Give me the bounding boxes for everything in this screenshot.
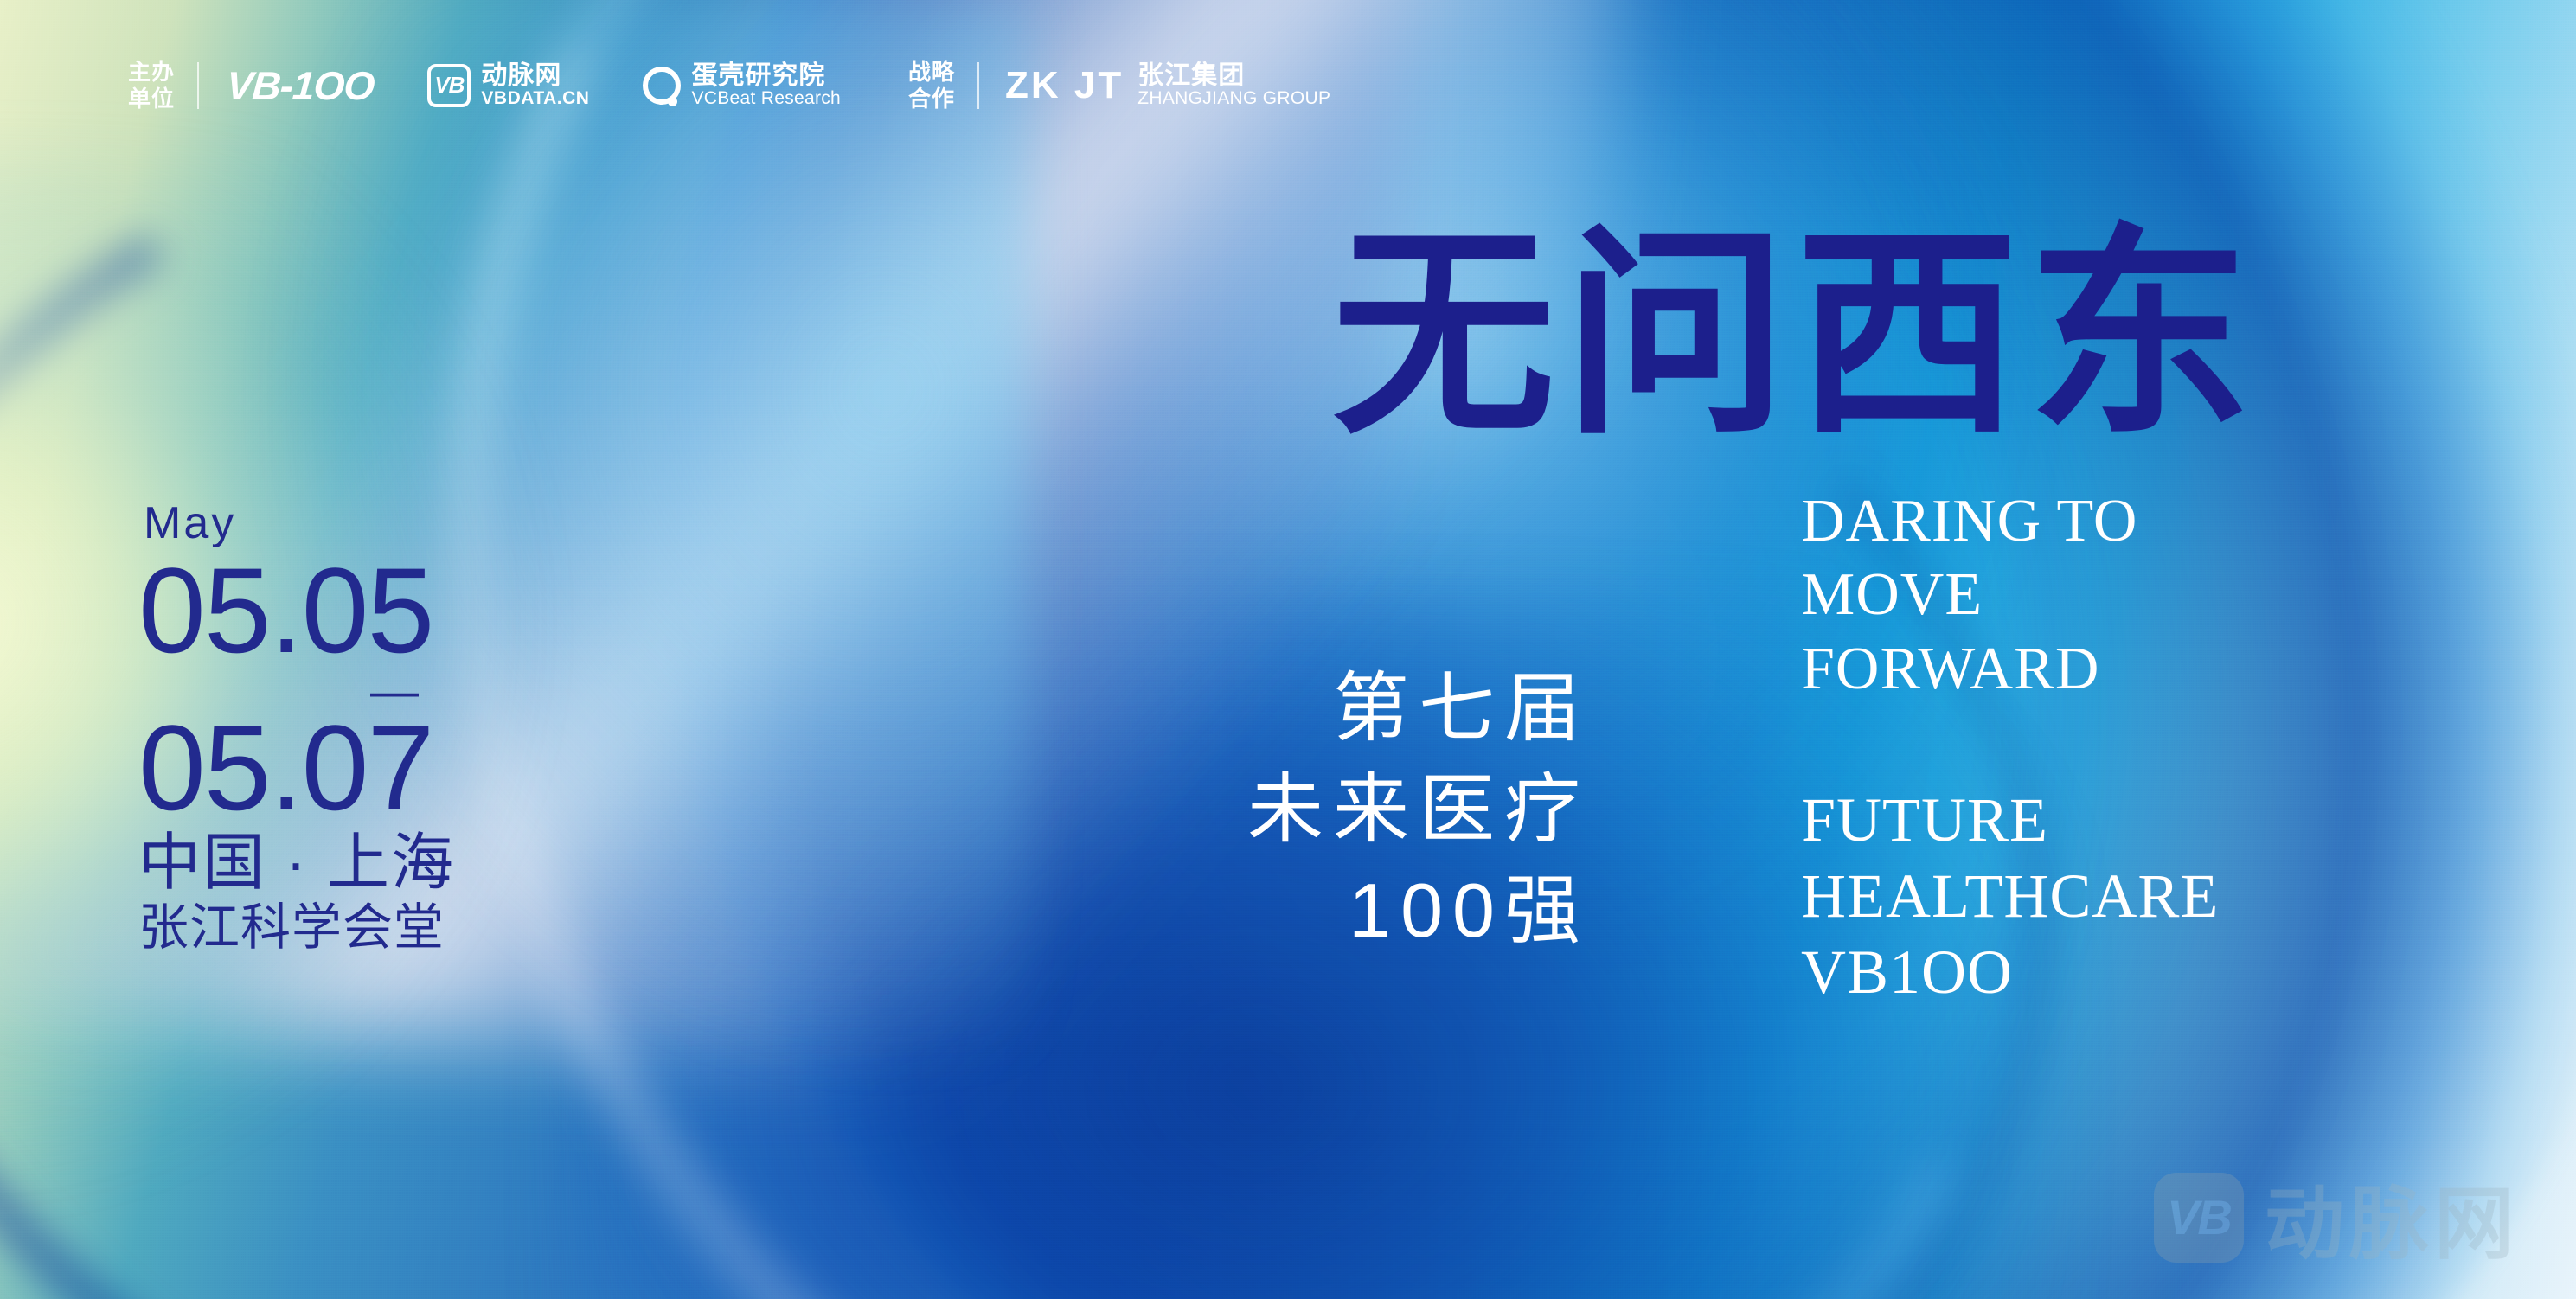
tagline-line-2: MOVE xyxy=(1801,558,2138,631)
event-en-line-2: HEALTHCARE xyxy=(1801,859,2219,935)
zhangjiang-wordmark[interactable]: 张江集团 ZHANGJIANG GROUP xyxy=(1137,62,1330,109)
watermark-vb-badge-icon: VB xyxy=(2154,1173,2244,1263)
date-start: 05.05 xyxy=(138,551,455,669)
location-venue: 张江科学会堂 xyxy=(138,900,455,957)
date-block: May 05.05 — 05.07 中国 · 上海 张江科学会堂 xyxy=(138,497,455,957)
logo-vcbeat[interactable]: 蛋壳研究院 VCBeat Research xyxy=(643,62,841,109)
event-en-line-1: FUTURE xyxy=(1801,783,2219,859)
vbdata-en-label: VBDATA.CN xyxy=(481,89,589,108)
sponsor-bar: 主办 单位 VB-1OO VB 动脉网 VBDATA.CN 蛋壳研究院 VCBe… xyxy=(128,59,1330,112)
strategic-group: 战略 合作 ZK JT 张江集团 ZHANGJIANG GROUP xyxy=(908,59,1330,112)
logo-vb100[interactable]: VB-1OO xyxy=(225,62,375,109)
event-cn-line-2: 未来医疗 xyxy=(1247,758,1590,860)
headline-chinese: 无问西东 xyxy=(1332,232,2259,437)
logo-zkjt-wordmark[interactable]: ZK JT xyxy=(1005,64,1124,107)
divider-line xyxy=(197,62,199,109)
poster-content: 主办 单位 VB-1OO VB 动脉网 VBDATA.CN 蛋壳研究院 VCBe… xyxy=(0,0,2576,1299)
zhangjiang-en-label: ZHANGJIANG GROUP xyxy=(1137,89,1330,108)
logo-vbdata[interactable]: VB 动脉网 VBDATA.CN xyxy=(427,62,589,109)
vbdata-cn-label: 动脉网 xyxy=(481,62,589,90)
vbdata-wordmark: 动脉网 VBDATA.CN xyxy=(481,62,589,109)
tagline-english: DARING TO MOVE FORWARD xyxy=(1801,484,2138,706)
event-cn-line-1: 第七届 xyxy=(1247,657,1590,758)
event-en-line-3: VB1OO xyxy=(1801,935,2219,1011)
tagline-line-3: FORWARD xyxy=(1801,632,2138,706)
event-cn-line-3: 100强 xyxy=(1247,860,1590,961)
strategic-kicker-label: 战略 合作 xyxy=(908,59,955,112)
vcbeat-wordmark: 蛋壳研究院 VCBeat Research xyxy=(691,62,841,109)
event-name-chinese: 第七届 未来医疗 100强 xyxy=(1247,657,1590,961)
event-name-english: FUTURE HEALTHCARE VB1OO xyxy=(1801,783,2219,1010)
poster-canvas: 主办 单位 VB-1OO VB 动脉网 VBDATA.CN 蛋壳研究院 VCBe… xyxy=(0,0,2576,1299)
watermark-vbdata: VB 动脉网 xyxy=(2154,1160,2519,1275)
vb-badge-icon: VB xyxy=(427,64,471,107)
zhangjiang-cn-label: 张江集团 xyxy=(1137,62,1330,90)
vcbeat-en-label: VCBeat Research xyxy=(691,89,841,108)
circle-dot-icon xyxy=(643,67,681,105)
organizer-kicker-label: 主办 单位 xyxy=(128,59,175,112)
watermark-label: 动脉网 xyxy=(2265,1160,2519,1275)
organizer-group: 主办 单位 VB-1OO xyxy=(128,59,374,112)
divider-line-2 xyxy=(977,62,979,109)
date-month-label: May xyxy=(144,497,455,549)
location-city: 中国 · 上海 xyxy=(138,829,455,899)
tagline-line-1: DARING TO xyxy=(1801,484,2138,558)
vcbeat-cn-label: 蛋壳研究院 xyxy=(691,62,841,90)
date-end: 05.07 xyxy=(138,708,455,827)
